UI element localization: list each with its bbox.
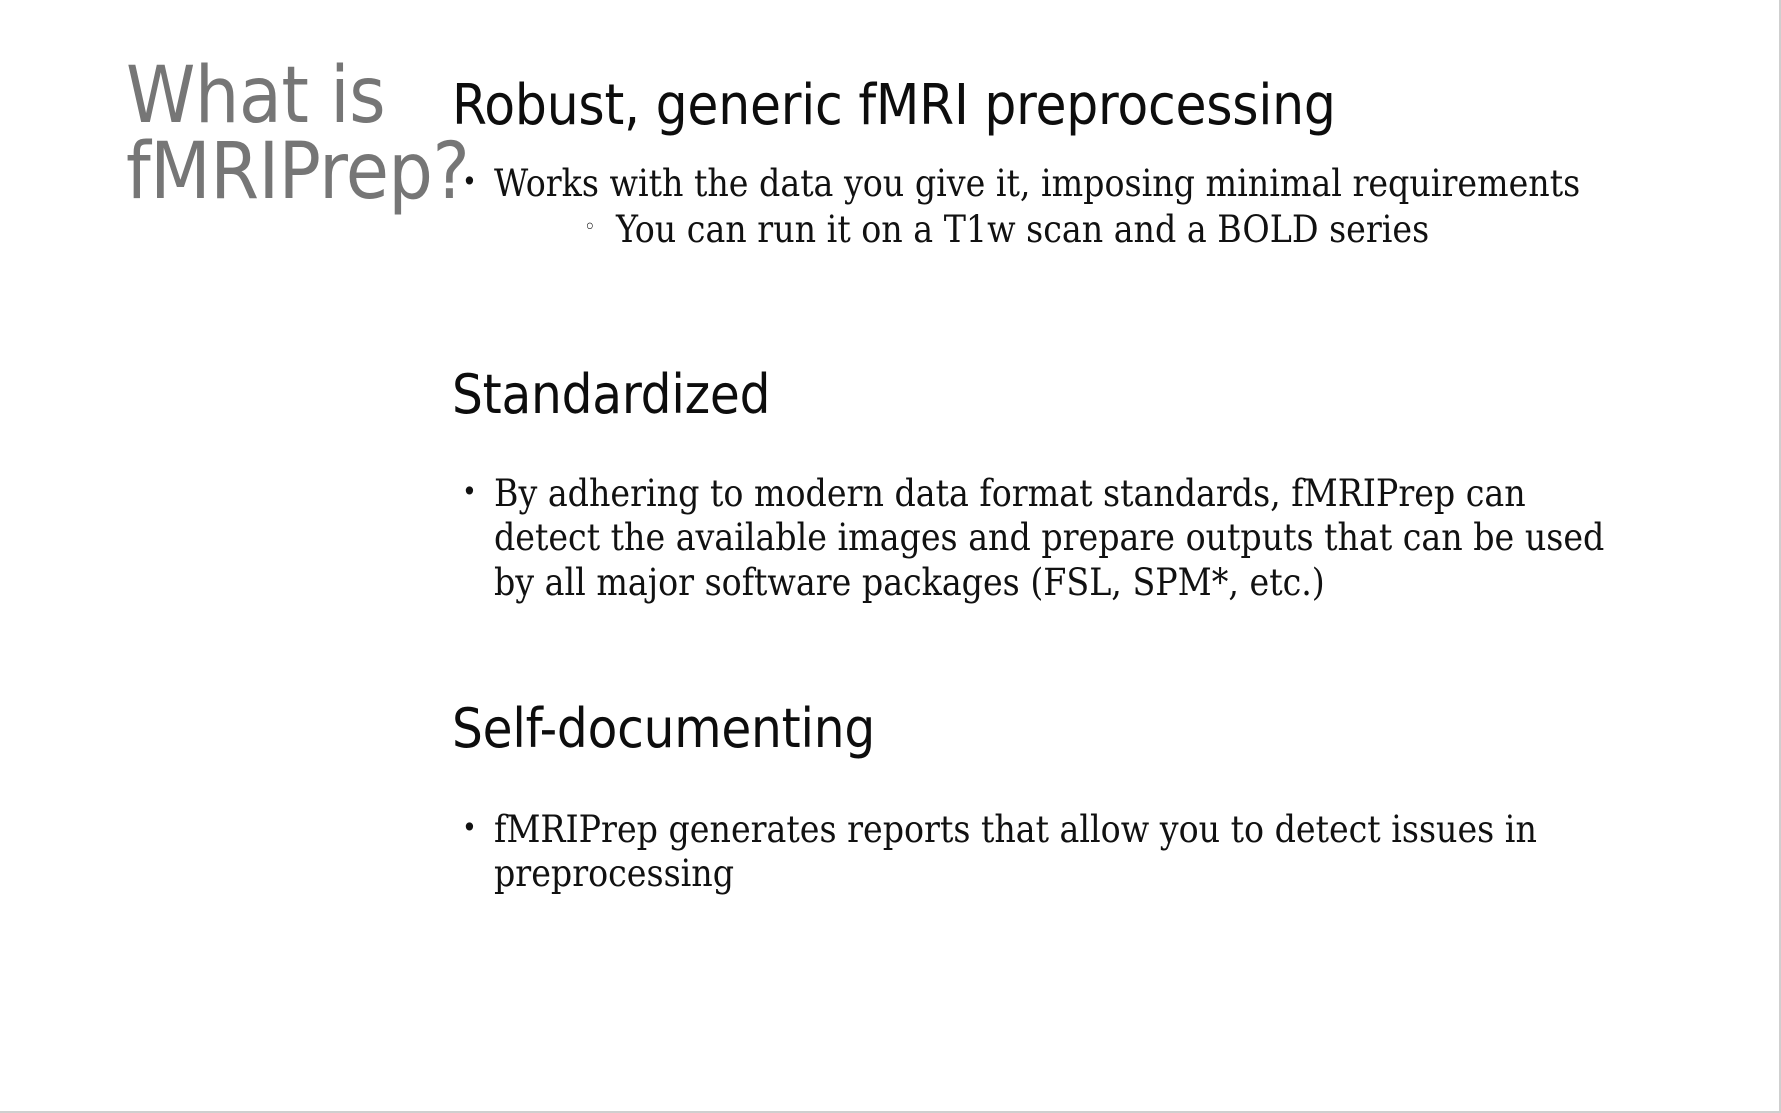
bullet-marker-icon: • xyxy=(462,808,477,849)
list-item: • By adhering to modern data format stan… xyxy=(452,472,1632,605)
list-item: ◦ You can run it on a T1w scan and a BOL… xyxy=(572,208,1632,252)
sub-bullet-list: ◦ You can run it on a T1w scan and a BOL… xyxy=(494,208,1632,252)
slide-body-column: Robust, generic fMRI preprocessing • Wor… xyxy=(452,0,1652,1113)
section-heading: Robust, generic fMRI preprocessing xyxy=(452,78,1632,134)
list-item-label: By adhering to modern data format standa… xyxy=(494,472,1604,604)
bullet-marker-icon: • xyxy=(462,162,477,203)
bullet-list: • Works with the data you give it, impos… xyxy=(452,162,1632,253)
section-self-documenting: Self-documenting • fMRIPrep generates re… xyxy=(452,702,1632,897)
section-robust-generic: Robust, generic fMRI preprocessing • Wor… xyxy=(452,78,1632,253)
bullet-list: • By adhering to modern data format stan… xyxy=(452,472,1632,605)
list-item-label: fMRIPrep generates reports that allow yo… xyxy=(494,808,1537,895)
list-item-label: You can run it on a T1w scan and a BOLD … xyxy=(616,208,1429,251)
sub-bullet-marker-icon: ◦ xyxy=(584,208,596,249)
page-title: What is fMRIPrep? xyxy=(126,58,436,211)
section-standardized: Standardized • By adhering to modern dat… xyxy=(452,368,1632,605)
section-heading: Standardized xyxy=(452,368,1632,422)
bullet-marker-icon: • xyxy=(462,472,477,513)
list-item-label: Works with the data you give it, imposin… xyxy=(494,162,1580,205)
list-item: • fMRIPrep generates reports that allow … xyxy=(452,808,1632,897)
section-heading: Self-documenting xyxy=(452,702,1632,756)
slide-canvas: What is fMRIPrep? Robust, generic fMRI p… xyxy=(0,0,1781,1113)
bullet-list: • fMRIPrep generates reports that allow … xyxy=(452,808,1632,897)
slide-title-block: What is fMRIPrep? xyxy=(126,58,436,211)
list-item: • Works with the data you give it, impos… xyxy=(452,162,1632,253)
